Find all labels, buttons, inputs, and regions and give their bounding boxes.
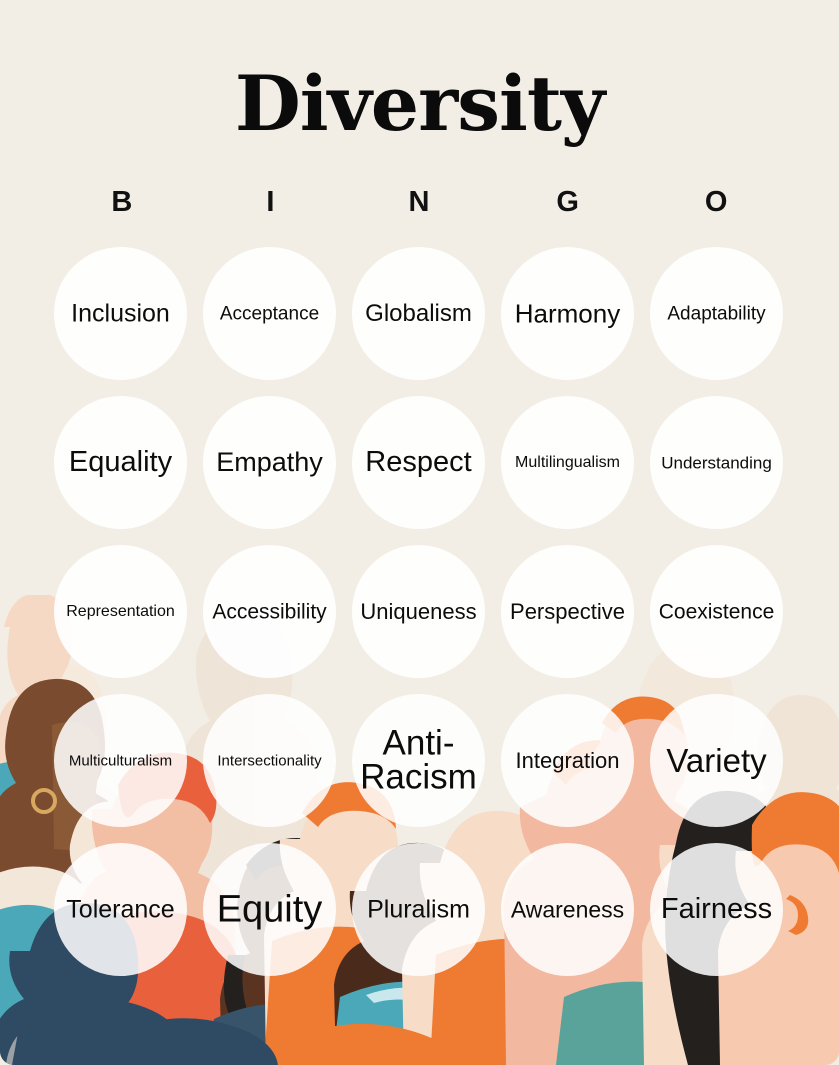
page-title: Diversity bbox=[0, 66, 839, 142]
bingo-grid: InclusionAcceptanceGlobalismHarmonyAdapt… bbox=[54, 247, 785, 976]
bingo-cell[interactable]: Equity bbox=[203, 843, 336, 976]
bingo-cell-label: Anti-Racism bbox=[355, 726, 483, 795]
bingo-cell[interactable]: Empathy bbox=[203, 396, 336, 529]
bingo-cell-label: Globalism bbox=[365, 301, 472, 325]
bingo-card: Diversity B I N G O InclusionAcceptanceG… bbox=[0, 0, 839, 1065]
bingo-cell-label: Representation bbox=[66, 603, 175, 619]
bingo-cell[interactable]: Intersectionality bbox=[203, 694, 336, 827]
bingo-cell[interactable]: Fairness bbox=[650, 843, 783, 976]
bingo-cell[interactable]: Acceptance bbox=[203, 247, 336, 380]
bingo-cell-label: Harmony bbox=[515, 300, 620, 327]
bingo-letter-i: I bbox=[197, 186, 346, 219]
bingo-cell-label: Inclusion bbox=[71, 301, 170, 327]
bingo-cell-label: Coexistence bbox=[659, 601, 775, 622]
bingo-cell-label: Perspective bbox=[510, 600, 625, 622]
bingo-cell[interactable]: Pluralism bbox=[352, 843, 485, 976]
bingo-cell-label: Empathy bbox=[216, 449, 323, 477]
bingo-cell[interactable]: Representation bbox=[54, 545, 187, 678]
bingo-cell[interactable]: Respect bbox=[352, 396, 485, 529]
bingo-cell[interactable]: Coexistence bbox=[650, 545, 783, 678]
bingo-cell-label: Fairness bbox=[661, 895, 772, 925]
bingo-cell[interactable]: Globalism bbox=[352, 247, 485, 380]
bingo-cell-label: Multiculturalism bbox=[69, 753, 172, 768]
bingo-header: B I N G O bbox=[48, 186, 791, 219]
bingo-letter-o: O bbox=[642, 186, 791, 219]
bingo-cell-label: Equality bbox=[69, 448, 172, 478]
bingo-cell[interactable]: Inclusion bbox=[54, 247, 187, 380]
bingo-cell-label: Adaptability bbox=[667, 304, 765, 323]
bingo-cell[interactable]: Uniqueness bbox=[352, 545, 485, 678]
bingo-cell-label: Integration bbox=[516, 749, 620, 771]
bingo-cell[interactable]: Awareness bbox=[501, 843, 634, 976]
bingo-cell-label: Pluralism bbox=[367, 897, 470, 923]
bingo-cell-label: Multilingualism bbox=[515, 454, 620, 470]
bingo-cell[interactable]: Multilingualism bbox=[501, 396, 634, 529]
bingo-cell[interactable]: Harmony bbox=[501, 247, 634, 380]
bingo-cell-label: Intersectionality bbox=[217, 753, 321, 768]
bingo-cell-label: Accessibility bbox=[212, 601, 326, 622]
bingo-cell[interactable]: Accessibility bbox=[203, 545, 336, 678]
bingo-cell[interactable]: Adaptability bbox=[650, 247, 783, 380]
bingo-cell[interactable]: Tolerance bbox=[54, 843, 187, 976]
bingo-letter-g: G bbox=[494, 186, 643, 219]
bingo-cell-label: Tolerance bbox=[66, 897, 174, 923]
bingo-cell-label: Uniqueness bbox=[360, 600, 476, 622]
bingo-cell[interactable]: Variety bbox=[650, 694, 783, 827]
bingo-cell-label: Understanding bbox=[661, 454, 772, 471]
bingo-letter-n: N bbox=[345, 186, 494, 219]
bingo-cell-label: Variety bbox=[666, 744, 766, 778]
bingo-cell[interactable]: Integration bbox=[501, 694, 634, 827]
bingo-cell[interactable]: Understanding bbox=[650, 396, 783, 529]
bingo-cell[interactable]: Multiculturalism bbox=[54, 694, 187, 827]
bingo-cell-label: Awareness bbox=[511, 898, 624, 921]
bingo-cell[interactable]: Equality bbox=[54, 396, 187, 529]
bingo-cell[interactable]: Perspective bbox=[501, 545, 634, 678]
bingo-letter-b: B bbox=[48, 186, 197, 219]
bingo-cell-label: Equity bbox=[217, 890, 323, 929]
bingo-cell-label: Acceptance bbox=[220, 304, 319, 323]
bingo-cell[interactable]: Anti-Racism bbox=[352, 694, 485, 827]
bingo-cell-label: Respect bbox=[365, 448, 471, 478]
